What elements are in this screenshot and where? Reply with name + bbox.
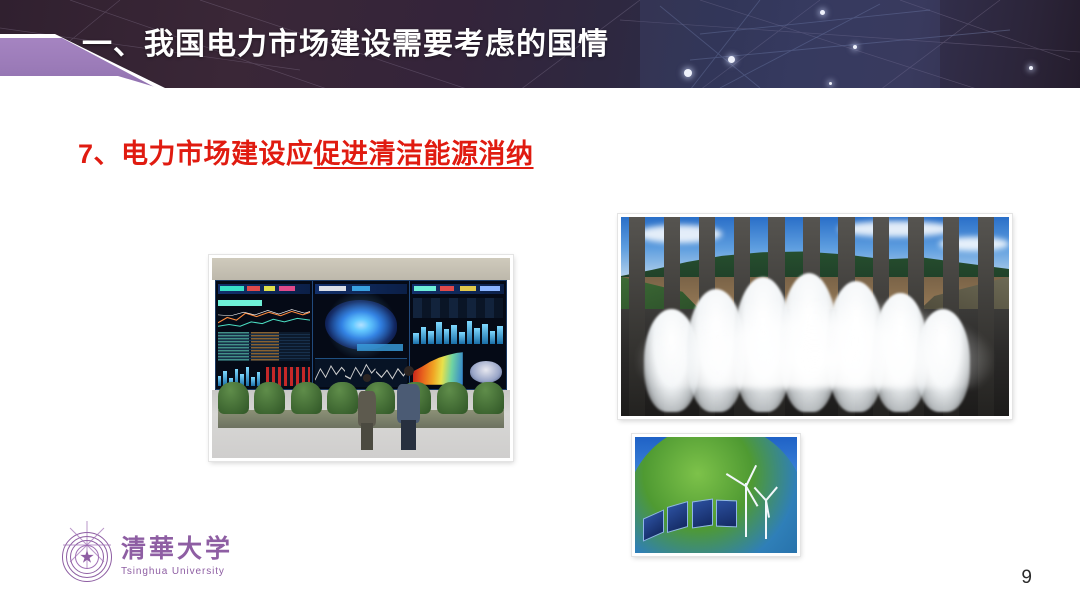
video-wall-panel-left bbox=[216, 281, 313, 389]
tsinghua-university-logo: 清華大学 Tsinghua University bbox=[62, 528, 242, 586]
logo-english-name: Tsinghua University bbox=[121, 566, 233, 577]
panel-header-bar bbox=[315, 284, 407, 294]
green-globe bbox=[635, 437, 797, 553]
person-standing bbox=[394, 366, 424, 450]
panel-data-rows bbox=[218, 298, 310, 386]
image-hydro-dam bbox=[618, 214, 1012, 419]
slide-header: 一、我国电力市场建设需要考虑的国情 bbox=[0, 0, 1080, 90]
logo-chinese-name: 清華大学 bbox=[121, 537, 233, 563]
image-control-room bbox=[209, 255, 513, 461]
tsinghua-seal-icon bbox=[62, 532, 112, 582]
wind-turbine-post bbox=[745, 483, 747, 536]
video-wall-panel-right bbox=[410, 281, 506, 389]
solar-panel bbox=[692, 498, 713, 528]
dam-cloud bbox=[838, 221, 954, 237]
header-node-dot bbox=[728, 56, 735, 63]
header-node-dot bbox=[853, 45, 857, 49]
subtitle-index: 7、 bbox=[78, 139, 121, 169]
header-node-dot bbox=[1029, 66, 1033, 70]
image-green-energy bbox=[632, 434, 800, 556]
solar-panel bbox=[716, 499, 737, 526]
dam-mist-overlay bbox=[637, 297, 994, 389]
subtitle-plain-text: 电力市场建设应 bbox=[121, 139, 314, 169]
bar-chart bbox=[413, 320, 503, 344]
panel-header-bar bbox=[412, 284, 504, 294]
section-subtitle: 7、电力市场建设应促进清洁能源消纳 bbox=[78, 132, 534, 171]
control-room-ceiling bbox=[212, 258, 510, 280]
panel-header-bar bbox=[218, 284, 310, 294]
header-node-dot bbox=[820, 10, 825, 15]
header-node-dot bbox=[829, 82, 832, 85]
header-node-dot bbox=[684, 69, 692, 77]
subtitle-underlined-text: 促进清洁能源消纳 bbox=[314, 139, 534, 169]
page-number: 9 bbox=[1021, 567, 1032, 589]
person-walking bbox=[355, 374, 379, 450]
page-title: 一、我国电力市场建设需要考虑的国情 bbox=[82, 19, 609, 63]
